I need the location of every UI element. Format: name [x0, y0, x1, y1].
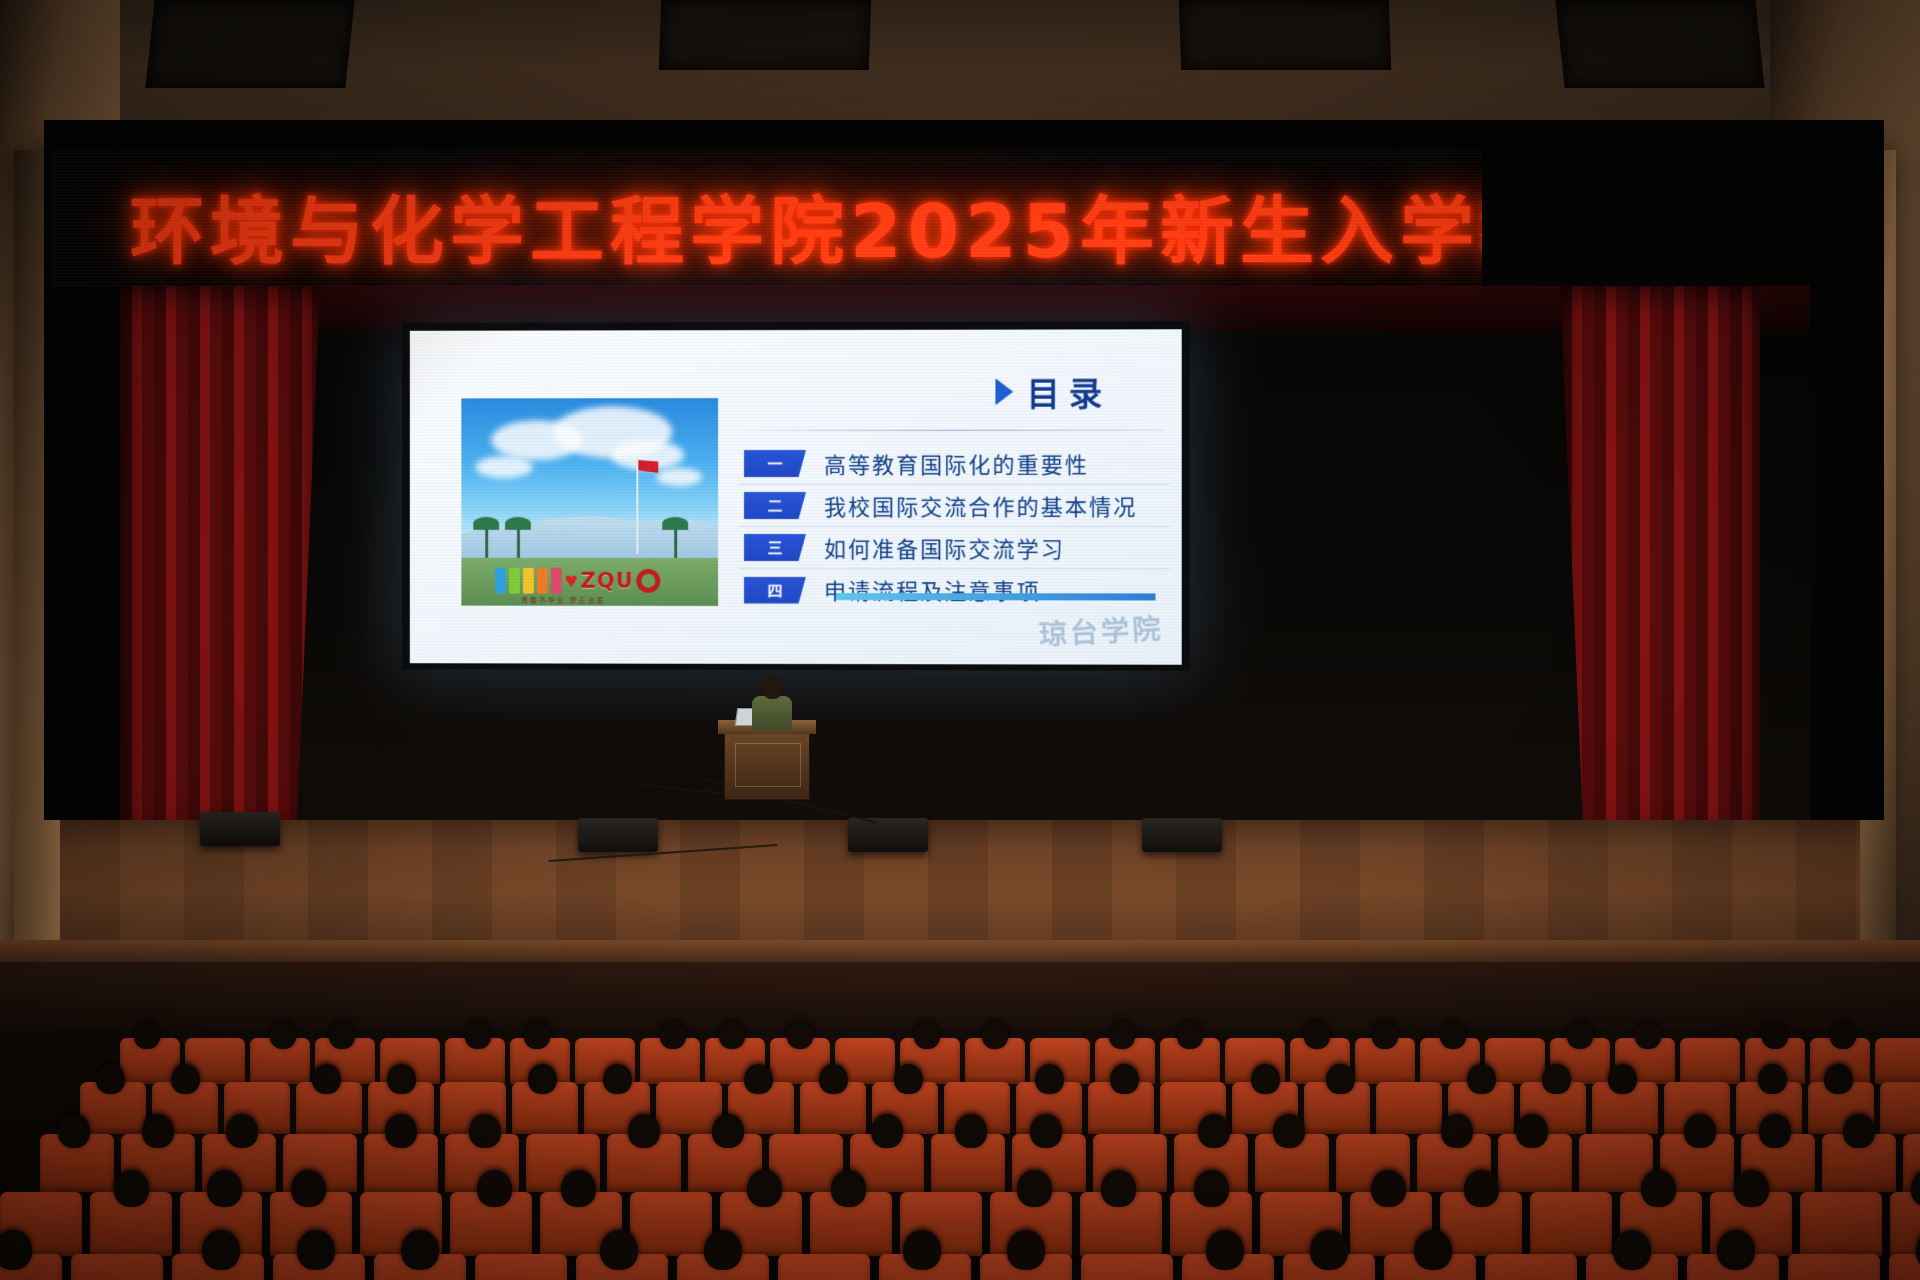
zqu-signage: ♥ ZQU — [495, 564, 684, 598]
audience-seat — [475, 1254, 567, 1280]
audience-member-head — [704, 1230, 742, 1270]
audience-member-head — [1372, 1022, 1398, 1049]
audience-member-head — [385, 1114, 417, 1148]
audience-seat — [1788, 1254, 1880, 1280]
audience-member-head — [628, 1114, 660, 1148]
audience-member-head — [1567, 1022, 1593, 1049]
audience-member-head — [894, 1064, 923, 1094]
audience-member-head — [1310, 1230, 1348, 1270]
zqu-sign-caption: 青春不毕业 梦正出发 — [521, 596, 605, 606]
sign-block — [495, 568, 506, 594]
toc-list: 一 高等教育国际化的重要性 二 我校国际交流合作的基本情况 三 如何准备国际交流… — [738, 443, 1170, 612]
palm-frond — [505, 517, 531, 530]
toc-item-label: 申请流程及注意事项 — [824, 574, 1041, 606]
audience-member-head — [914, 1022, 940, 1049]
audience-member-head — [1035, 1064, 1064, 1094]
audience-member-head — [477, 1170, 512, 1207]
audience-member-head — [0, 1230, 32, 1270]
palm-frond — [662, 517, 688, 530]
audience-member-head — [1326, 1064, 1355, 1094]
audience-member-head — [1194, 1170, 1229, 1207]
audience-member-head — [712, 1114, 744, 1148]
audience-seat-row — [80, 1082, 1920, 1134]
slide-accent-bar — [836, 593, 1155, 600]
audience-member-head — [1608, 1064, 1637, 1094]
audience-member-head — [561, 1170, 596, 1207]
led-banner-text: 环境与化学工程学院2025年新生入学教育 — [130, 172, 1482, 279]
audience-member-head — [1684, 1114, 1716, 1148]
audience-member-head — [465, 1022, 491, 1049]
audience-seat-row — [0, 1254, 1890, 1280]
audience-member-head — [871, 1114, 903, 1148]
audience-member-head — [1101, 1170, 1136, 1207]
audience-seat — [1889, 1254, 1920, 1280]
audience-member-head — [469, 1114, 501, 1148]
toc-item-label: 高等教育国际化的重要性 — [824, 447, 1089, 479]
ceiling-panel — [145, 0, 354, 88]
heart-icon: ♥ — [565, 570, 578, 592]
toc-item-number: 一 — [744, 450, 806, 477]
campus-buildings — [461, 500, 718, 562]
audience-member-head — [1273, 1114, 1305, 1148]
audience-member-head — [528, 1064, 557, 1094]
audience-member-head — [1110, 1064, 1139, 1094]
audience-member-head — [1759, 1114, 1791, 1148]
audience-member-head — [744, 1064, 773, 1094]
audience-seat — [1081, 1254, 1173, 1280]
toc-item-label: 如何准备国际交流学习 — [824, 532, 1065, 564]
audience-seat — [1376, 1082, 1442, 1134]
audience-seat — [1530, 1192, 1612, 1256]
audience-member-head — [297, 1230, 335, 1270]
audience-member-head — [202, 1230, 240, 1270]
audience-member-head — [401, 1230, 439, 1270]
audience-member-head — [270, 1022, 296, 1049]
audience-member-head — [1371, 1170, 1406, 1207]
projection-screen: ♥ ZQU 青春不毕业 梦正出发 目录 一 高等教育国际化的重要性 — [410, 329, 1182, 665]
audience-member-head — [831, 1170, 866, 1207]
audience-member-head — [1830, 1022, 1856, 1049]
stage-monitor — [848, 818, 928, 852]
audience-seat — [778, 1254, 870, 1280]
audience-member-head — [1177, 1022, 1203, 1049]
audience-member-head — [747, 1170, 782, 1207]
audience-member-head — [114, 1170, 149, 1207]
audience-member-head — [1206, 1230, 1244, 1270]
audience-member-head — [1734, 1170, 1769, 1207]
audience-member-head — [982, 1022, 1008, 1049]
palm-frond — [473, 517, 499, 530]
audience-member-head — [1762, 1022, 1788, 1049]
audience-member-head — [226, 1114, 258, 1148]
audience-member-head — [1007, 1230, 1045, 1270]
cloud-shape — [475, 456, 533, 478]
audience-member-head — [1635, 1022, 1661, 1049]
audience-member-head — [1251, 1064, 1280, 1094]
wooden-podium — [724, 730, 810, 800]
national-flag-icon — [638, 460, 658, 473]
audience-member-head — [1017, 1170, 1052, 1207]
toc-divider — [740, 430, 1164, 431]
zqu-sign-word: ZQU — [581, 569, 634, 593]
audience-member-head — [955, 1114, 987, 1148]
toc-item: 四 申请流程及注意事项 — [738, 569, 1170, 612]
audience-member-head — [1030, 1114, 1062, 1148]
audience-member-head — [1304, 1022, 1330, 1049]
audience-member-head — [312, 1064, 341, 1094]
ceiling-panel — [1555, 0, 1764, 88]
audience-seat — [1680, 1038, 1740, 1084]
toc-header: 目录 — [738, 367, 1170, 416]
audience-member-head — [142, 1114, 174, 1148]
toc-item-number: 三 — [744, 534, 806, 561]
presenter-head — [762, 676, 783, 699]
ceiling-panel — [1179, 0, 1391, 70]
audience-member-head — [58, 1114, 90, 1148]
auditorium-scene: 环境与化学工程学院2025年新生入学教育 — [0, 0, 1920, 1280]
audience-member-head — [1198, 1114, 1230, 1148]
toc-item: 一 高等教育国际化的重要性 — [738, 443, 1170, 485]
audience-member-head — [660, 1022, 686, 1049]
chevron-right-icon — [995, 379, 1012, 405]
projection-screen-frame: ♥ ZQU 青春不毕业 梦正出发 目录 一 高等教育国际化的重要性 — [402, 321, 1190, 671]
audience-member-head — [1613, 1230, 1651, 1270]
audience-member-head — [171, 1064, 200, 1094]
audience-seat — [1800, 1192, 1882, 1256]
toc-item-label: 我校国际交流合作的基本情况 — [824, 489, 1137, 521]
audience-member-head — [1717, 1230, 1755, 1270]
toc-item: 三 如何准备国际交流学习 — [738, 527, 1170, 569]
slide-watermark: 琼台学院 — [1038, 607, 1165, 653]
ceiling-panel — [659, 0, 871, 70]
left-curtain — [120, 286, 320, 846]
audience-member-head — [1467, 1064, 1496, 1094]
flagpole — [636, 458, 638, 554]
audience-member-head — [600, 1230, 638, 1270]
audience-member-head — [1414, 1230, 1452, 1270]
audience-seat — [1485, 1254, 1577, 1280]
sign-block — [523, 568, 534, 594]
led-banner: 环境与化学工程学院2025年新生入学教育 — [52, 150, 1482, 286]
audience-hall — [0, 1030, 1920, 1280]
audience-seat — [630, 1192, 712, 1256]
audience-member-head — [819, 1064, 848, 1094]
stage-monitor — [578, 818, 658, 852]
audience-member-head — [719, 1022, 745, 1049]
audience-member-head — [291, 1170, 326, 1207]
audience-member-head — [207, 1170, 242, 1207]
stage-monitor — [1142, 818, 1222, 852]
audience-member-head — [1516, 1114, 1548, 1148]
toc-title: 目录 — [1027, 368, 1112, 416]
audience-seat — [71, 1254, 163, 1280]
audience-member-head — [603, 1064, 632, 1094]
sign-block — [537, 568, 548, 594]
audience-member-head — [387, 1064, 416, 1094]
sign-block — [551, 568, 562, 594]
audience-member-head — [1824, 1064, 1853, 1094]
audience-member-head — [787, 1022, 813, 1049]
stage-monitor — [200, 812, 280, 846]
slide-content: 目录 一 高等教育国际化的重要性 二 我校国际交流合作的基本情况 三 如何准备国… — [738, 349, 1170, 656]
audience-member-head — [1109, 1022, 1135, 1049]
audience-seat — [1880, 1082, 1920, 1134]
palm-trunk — [674, 526, 677, 560]
palm-trunk — [517, 526, 520, 560]
audience-member-head — [1641, 1170, 1676, 1207]
palm-trunk — [485, 526, 488, 560]
presenter-body — [752, 696, 792, 730]
toc-item-number: 二 — [744, 492, 806, 519]
toc-item-number: 四 — [744, 576, 806, 603]
audience-seat — [1875, 1038, 1920, 1084]
audience-member-head — [524, 1022, 550, 1049]
slide-campus-photo: ♥ ZQU 青春不毕业 梦正出发 — [461, 398, 718, 606]
sign-ring-icon — [637, 569, 661, 593]
right-curtain — [1560, 286, 1760, 846]
audience-member-head — [1464, 1170, 1499, 1207]
audience-member-head — [1440, 1022, 1466, 1049]
audience-member-head — [903, 1230, 941, 1270]
audience-member-head — [134, 1022, 160, 1049]
audience-member-head — [96, 1064, 125, 1094]
audience-member-head — [1441, 1114, 1473, 1148]
toc-item: 二 我校国际交流合作的基本情况 — [738, 485, 1170, 527]
podium-front-panel — [735, 743, 801, 787]
audience-member-head — [1542, 1064, 1571, 1094]
audience-member-head — [1758, 1064, 1787, 1094]
audience-member-head — [329, 1022, 355, 1049]
cloud-shape — [656, 468, 702, 486]
sign-block — [509, 568, 520, 594]
audience-member-head — [1843, 1114, 1875, 1148]
